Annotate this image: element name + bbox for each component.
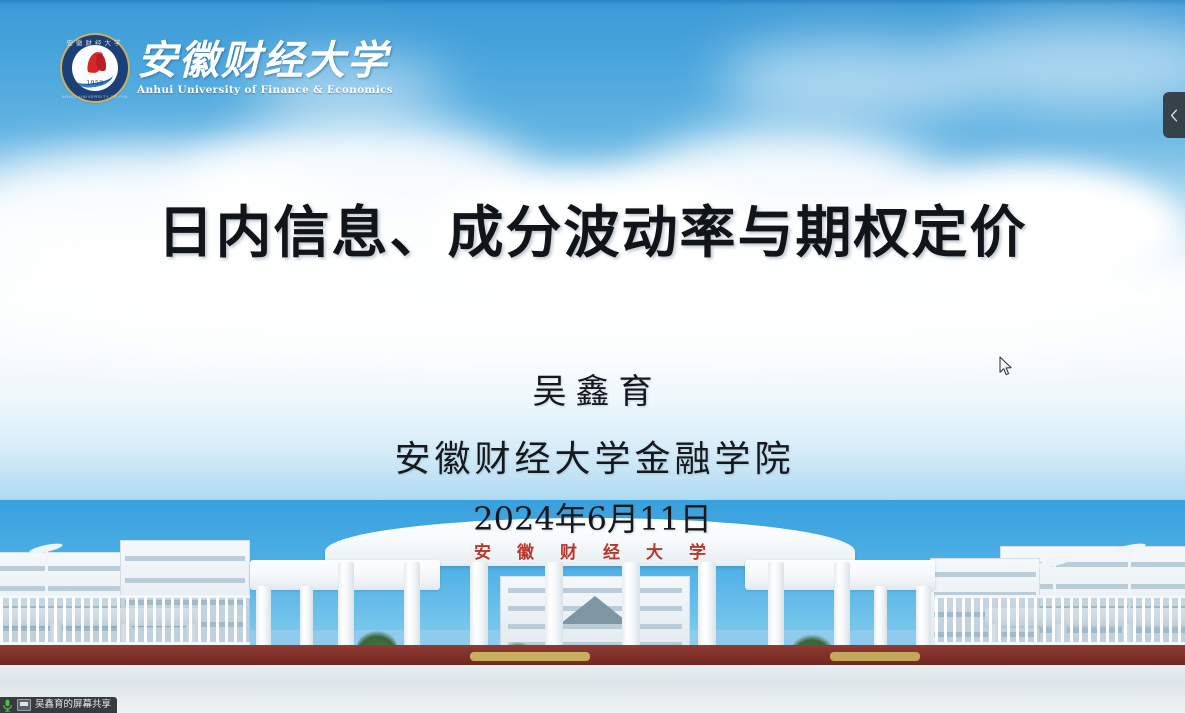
seal-inner-disc: 1959: [72, 45, 118, 91]
seal-ring-en-text: ANHUI UNIVERSITY OF FINANCE & ECONOMICS: [62, 94, 128, 99]
collapse-panel-tab[interactable]: [1163, 92, 1185, 138]
seal-year-text: 1959: [72, 80, 118, 87]
campus-plaza-ground: [0, 665, 1185, 713]
cloud-shape: [720, 40, 980, 120]
campus-fence-right: [935, 595, 1185, 645]
screen-share-indicator[interactable]: 吴鑫育的屏幕共享: [0, 697, 117, 713]
slide-author: 吴鑫育: [0, 364, 1185, 413]
screen-share-label: 吴鑫育的屏幕共享: [35, 700, 111, 710]
screen-share-window: 安徽财经大学: [0, 0, 1185, 713]
wordmark-english: Anhui University of Finance & Economics: [137, 84, 393, 97]
campus-flower-bed: [470, 652, 590, 661]
campus-fence-left: [0, 595, 250, 645]
chevron-left-icon: [1170, 109, 1178, 122]
screen-share-icon[interactable]: [17, 699, 31, 711]
campus-flower-bed: [830, 652, 920, 661]
slide-affiliation: 安徽财经大学金融学院: [0, 430, 1185, 482]
university-wordmark: 安徽财经大学 Anhui University of Finance & Eco…: [137, 39, 393, 97]
wordmark-chinese: 安徽财经大学: [137, 39, 393, 83]
slide-date: 2024年6月11日: [0, 494, 1185, 540]
slide-title: 日内信息、成分波动率与期权定价: [0, 198, 1185, 268]
university-seal-icon: 安徽财经大学 ANHUI UNIVERSITY OF FINANCE & ECO…: [62, 35, 128, 101]
microphone-icon[interactable]: [2, 699, 13, 712]
campus-hedge-row: [0, 645, 1185, 665]
university-logo: 安徽财经大学 ANHUI UNIVERSITY OF FINANCE & ECO…: [62, 35, 393, 101]
